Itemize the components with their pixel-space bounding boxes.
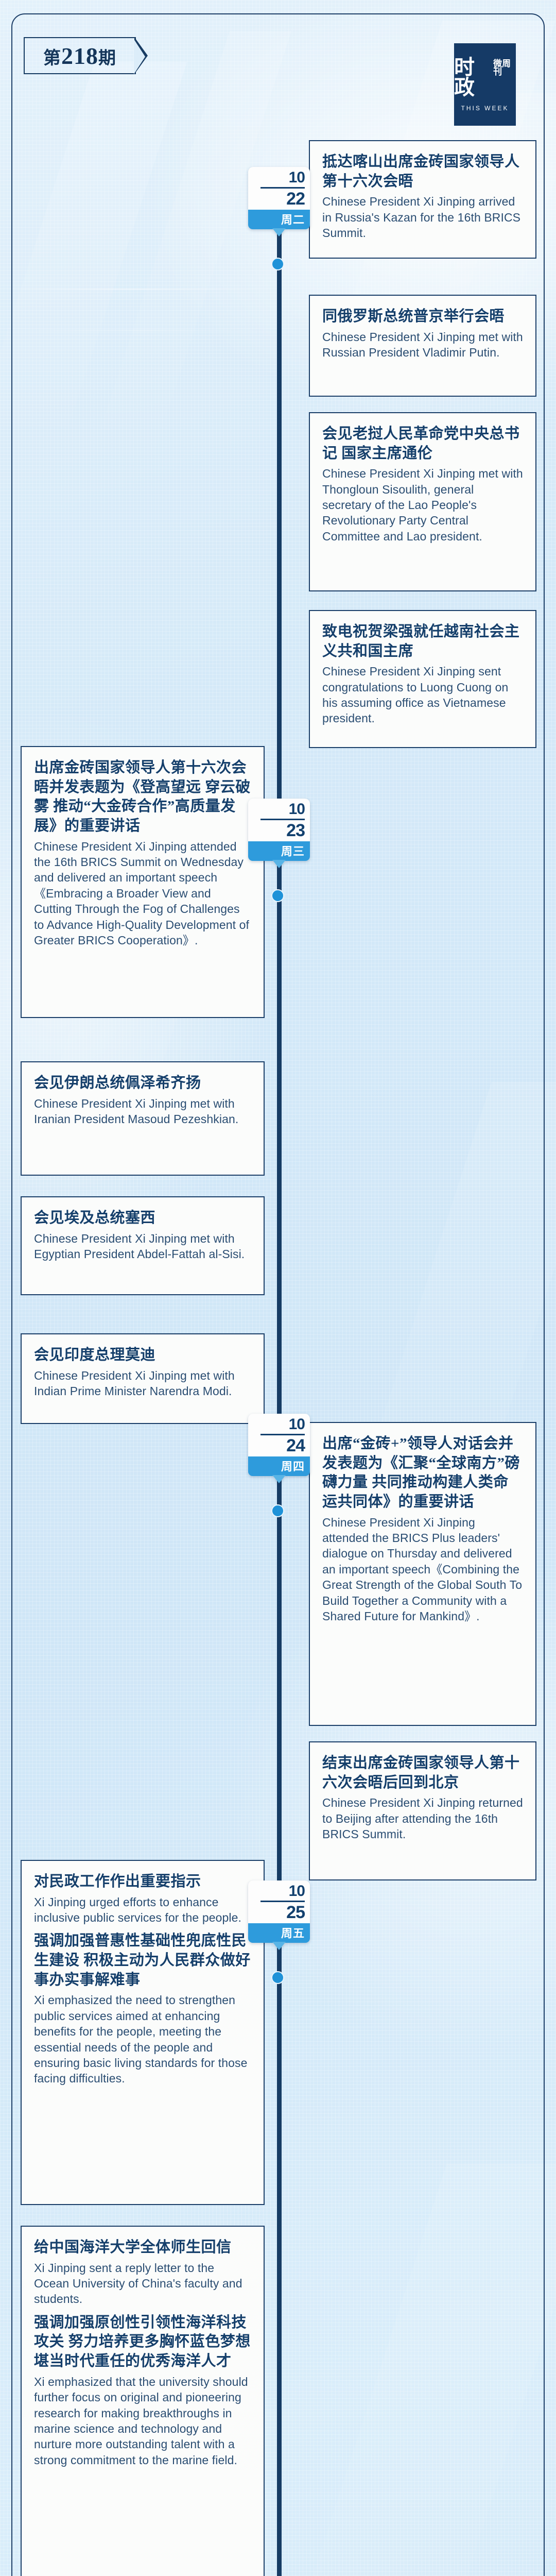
issue-badge: 第218期 [24,37,136,74]
card-title-cn: 同俄罗斯总统普京举行会晤 [322,307,523,327]
chip-pointer-icon [272,1475,286,1483]
card-body-en: Chinese President Xi Jinping met with Ru… [322,329,523,361]
date-chip-1023[interactable]: 1023 周三 [248,799,310,861]
card-body-en: Xi Jinping sent a reply letter to the Oc… [34,2260,251,2307]
card-title-cn: 会见老挝人民革命党中央总书记 国家主席通伦 [322,425,523,463]
timeline-card-12[interactable]: 给中国海洋大学全体师生回信 Xi Jinping sent a reply le… [21,2226,265,2576]
timeline-card-4[interactable]: 致电祝贺梁强就任越南社会主义共和国主席 Chinese President Xi… [309,610,536,748]
date-chip-1024[interactable]: 1024 周四 [248,1414,310,1476]
timeline-dot-1024 [271,1504,284,1517]
timeline-card-7[interactable]: 会见埃及总统塞西 Chinese President Xi Jinping me… [21,1196,265,1295]
timeline-dot-1025 [271,1971,284,1984]
card-body-en: Chinese President Xi Jinping sent congra… [322,664,523,726]
timeline-card-3[interactable]: 会见老挝人民革命党中央总书记 国家主席通伦 Chinese President … [309,412,536,591]
card-title-cn: 结束出席金砖国家领导人第十六次会晤后回到北京 [322,1754,523,1792]
timeline-axis [277,181,282,2576]
brand-name-cn: 时政 [454,57,491,97]
timeline-card-5[interactable]: 出席金砖国家领导人第十六次会晤并发表题为《登高望远 穿云破雾 推动“大金砖合作”… [21,746,265,1018]
timeline-card-6[interactable]: 会见伊朗总统佩泽希齐扬 Chinese President Xi Jinping… [21,1061,265,1176]
chip-pointer-icon [272,1942,286,1950]
card-body-en: Chinese President Xi Jinping met with In… [34,1368,251,1399]
card-body-en: Chinese President Xi Jinping arrived in … [322,194,523,241]
timeline-card-1[interactable]: 抵达喀山出席金砖国家领导人第十六次会晤 Chinese President Xi… [309,140,536,259]
card-title-cn: 抵达喀山出席金砖国家领导人第十六次会晤 [322,152,523,191]
card-body-en-2: Xi emphasized the need to strengthen pub… [34,1992,251,2086]
timeline-card-10[interactable]: 结束出席金砖国家领导人第十六次会晤后回到北京 Chinese President… [309,1741,536,1880]
card-body-en: Xi Jinping urged efforts to enhance incl… [34,1894,251,1926]
card-body-en: Chinese President Xi Jinping returned to… [322,1795,523,1842]
card-title-cn: 会见伊朗总统佩泽希齐扬 [34,1074,251,1093]
card-title-cn: 会见埃及总统塞西 [34,1209,251,1228]
card-title-cn: 出席“金砖+”领导人对话会并发表题为《汇聚“全球南方”磅礴力量 共同推动构建人类… [322,1434,523,1512]
card-title-cn: 对民政工作作出重要指示 [34,1872,251,1892]
card-title-cn: 会见印度总理莫迪 [34,1346,251,1365]
card-body-en-2: Xi emphasized that the university should… [34,2374,251,2468]
timeline-card-11[interactable]: 对民政工作作出重要指示 Xi Jinping urged efforts to … [21,1860,265,2205]
chip-pointer-icon [272,860,286,868]
card-title-cn: 致电祝贺梁强就任越南社会主义共和国主席 [322,622,523,661]
card-body-en: Chinese President Xi Jinping met with Eg… [34,1231,251,1262]
date-chip-1022[interactable]: 1022 周二 [248,167,310,229]
card-body-en: Chinese President Xi Jinping met with Ir… [34,1096,251,1127]
date-chip-1025[interactable]: 1025 周五 [248,1880,310,1943]
card-body-en: Chinese President Xi Jinping attended th… [34,839,251,948]
card-body-en: Chinese President Xi Jinping attended th… [322,1515,523,1624]
brand-logo: 时政 微周刊 THIS WEEK [454,43,516,126]
timeline-card-9[interactable]: 出席“金砖+”领导人对话会并发表题为《汇聚“全球南方”磅礴力量 共同推动构建人类… [309,1422,536,1726]
timeline-card-8[interactable]: 会见印度总理莫迪 Chinese President Xi Jinping me… [21,1333,265,1424]
card-title-cn: 出席金砖国家领导人第十六次会晤并发表题为《登高望远 穿云破雾 推动“大金砖合作”… [34,758,251,836]
brand-subtitle-cn: 微周刊 [493,57,516,77]
timeline-dot-1023 [271,889,284,902]
card-title-cn-2: 强调加强原创性引领性海洋科技攻关 努力培养更多胸怀蓝色梦想堪当时代重任的优秀海洋… [34,2313,251,2371]
timeline-dot-1022 [271,258,284,270]
brand-name-en: THIS WEEK [461,105,509,112]
card-title-cn-2: 强调加强普惠性基础性兜底性民生建设 积极主动为人民群众做好事办实事解难事 [34,1931,251,1990]
card-title-cn: 给中国海洋大学全体师生回信 [34,2238,251,2258]
issue-label: 第218期 [43,42,116,70]
card-body-en: Chinese President Xi Jinping met with Th… [322,466,523,544]
chip-pointer-icon [272,228,286,236]
timeline-card-2[interactable]: 同俄罗斯总统普京举行会晤 Chinese President Xi Jinpin… [309,295,536,397]
